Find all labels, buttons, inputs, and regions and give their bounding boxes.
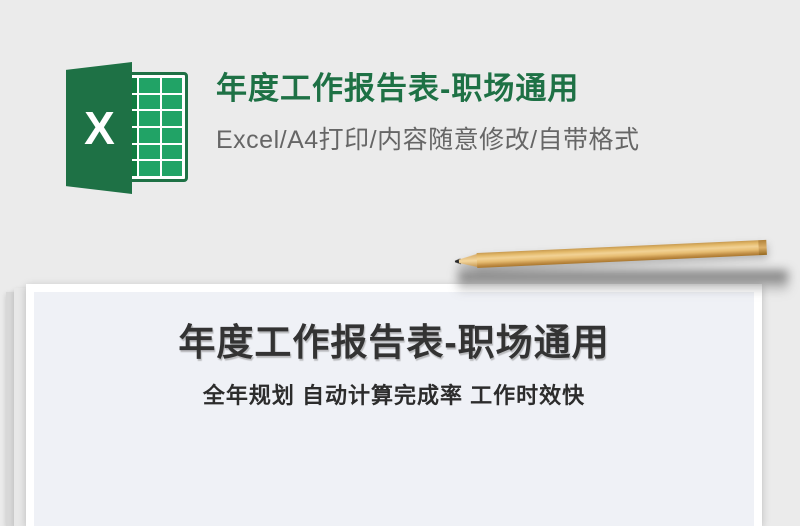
excel-logo-letter: X — [66, 62, 132, 194]
header-content: X 年度工作报告表-职场通用 Excel/A4打印/内容随意修改/自带格式 — [60, 58, 640, 198]
page-subtitle: Excel/A4打印/内容随意修改/自带格式 — [216, 125, 640, 156]
header-text-block: 年度工作报告表-职场通用 Excel/A4打印/内容随意修改/自带格式 — [216, 58, 640, 156]
document-subtitle: 全年规划 自动计算完成率 工作时效快 — [34, 378, 754, 410]
pencil-end — [758, 240, 767, 255]
page-title: 年度工作报告表-职场通用 — [216, 70, 640, 109]
document-title: 年度工作报告表-职场通用 — [34, 312, 754, 366]
pencil-body — [477, 240, 767, 268]
document-preview[interactable]: 年度工作报告表-职场通用 全年规划 自动计算完成率 工作时效快 职场年度工作报告… — [26, 284, 762, 526]
header-banner: X 年度工作报告表-职场通用 Excel/A4打印/内容随意修改/自带格式 — [0, 0, 800, 230]
excel-logo-icon: X — [60, 58, 200, 198]
document-page: 年度工作报告表-职场通用 全年规划 自动计算完成率 工作时效快 — [34, 292, 754, 526]
